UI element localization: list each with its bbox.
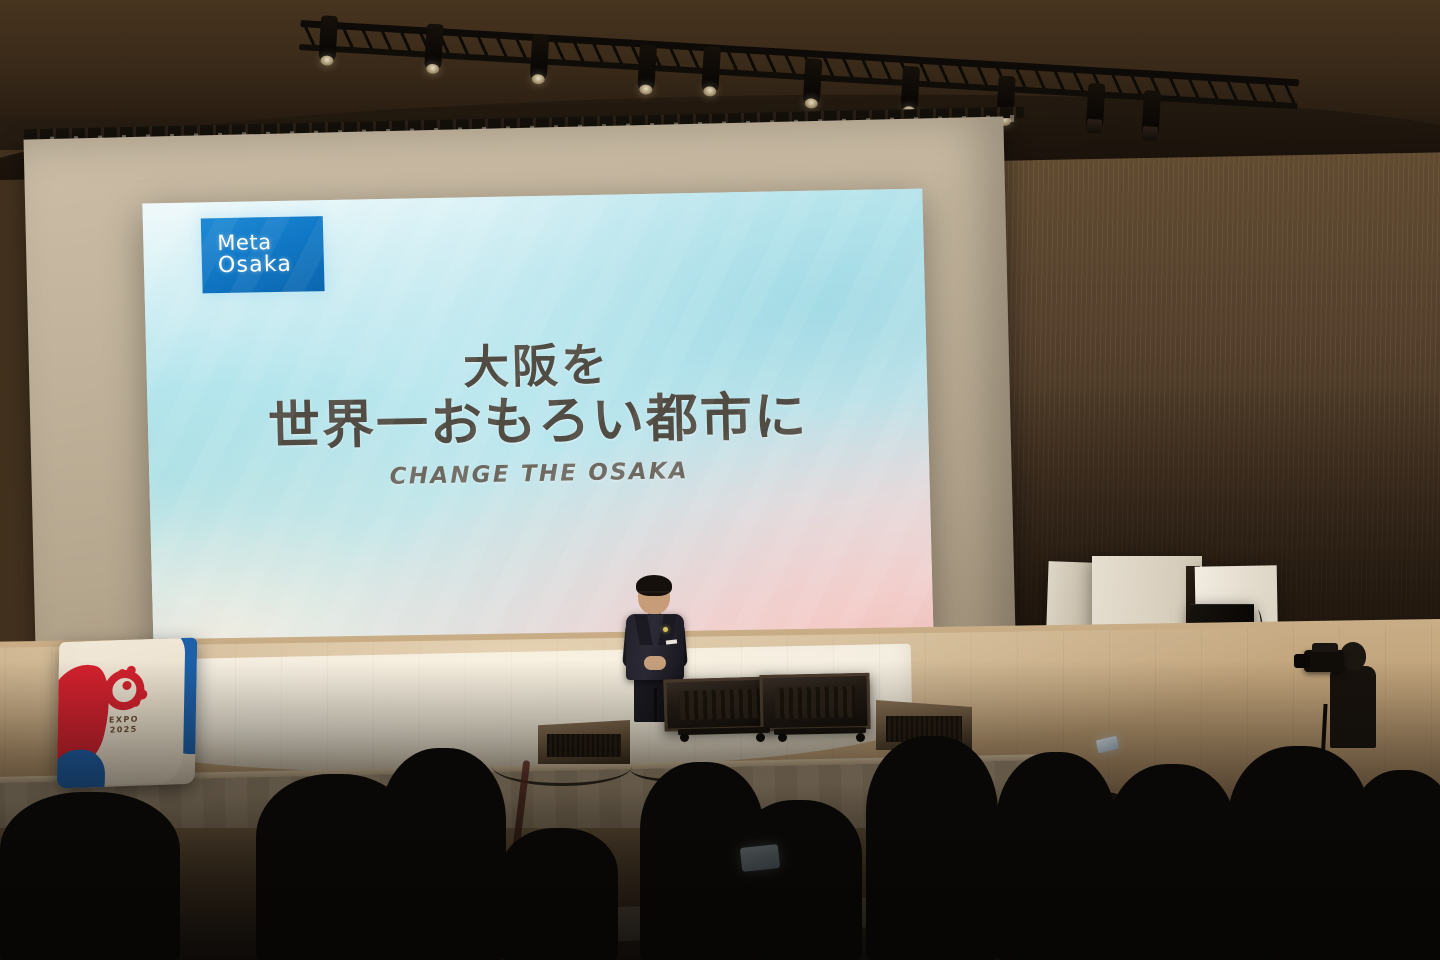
video-camera-icon [1304, 650, 1344, 672]
spotlight-icon [424, 24, 444, 71]
glasses-icon [639, 591, 669, 597]
ring-dot [127, 666, 136, 675]
presenter-lapel-pin [663, 627, 668, 632]
confidence-monitor [759, 673, 870, 731]
audience-silhouette [256, 774, 416, 960]
presenter-hands [644, 656, 666, 670]
audience-silhouette [1348, 770, 1440, 960]
camera-lens-icon [1294, 654, 1310, 668]
spotlight-icon [637, 44, 657, 91]
monitor-caster [680, 733, 689, 742]
expo-ring-logo-icon: EXPO 2025 [96, 669, 153, 737]
spotlight-icon [318, 15, 338, 62]
spotlight-icon [530, 34, 550, 81]
projection-vignette [142, 189, 933, 656]
audience-silhouette [736, 800, 862, 960]
operator-body [1330, 666, 1376, 748]
expo-ring-icon [104, 669, 145, 710]
projection-screen: Meta Osaka 大阪を 世界一おもろい都市に CHANGE THE OSA… [142, 189, 933, 656]
monitor-back [775, 687, 855, 719]
camera-operator [1318, 638, 1388, 748]
spotlight-icon [701, 46, 721, 93]
monitor-caster [778, 733, 787, 742]
audience-silhouette [996, 752, 1116, 960]
ring-dot [118, 669, 127, 678]
auditorium-scene: Meta Osaka 大阪を 世界一おもろい都市に CHANGE THE OSA… [0, 0, 1440, 960]
presenter-leg-gap [654, 688, 657, 722]
monitor-caster [856, 733, 865, 742]
presentation-slide: Meta Osaka 大阪を 世界一おもろい都市に CHANGE THE OSA… [142, 189, 933, 656]
audience-silhouette [1108, 764, 1236, 960]
audience-silhouette [500, 828, 618, 960]
expo-2025-banner: EXPO 2025 [57, 638, 197, 789]
stage-cable [492, 746, 632, 786]
spotlight-icon [1086, 83, 1106, 130]
camera-hood [1312, 643, 1338, 652]
audience-phone-screen [740, 844, 780, 872]
audience-silhouette [866, 736, 998, 960]
spotlight-icon [803, 58, 823, 105]
ring-dot [122, 681, 131, 690]
presenter-jacket [626, 614, 684, 680]
monitor-back [679, 689, 760, 719]
expo-year-label: 2025 [109, 725, 139, 736]
monitor-caster [756, 733, 765, 742]
audience-silhouette [0, 792, 180, 960]
ring-dot [131, 698, 140, 707]
spotlight-icon [900, 66, 920, 113]
spotlight-icon [1141, 90, 1161, 137]
